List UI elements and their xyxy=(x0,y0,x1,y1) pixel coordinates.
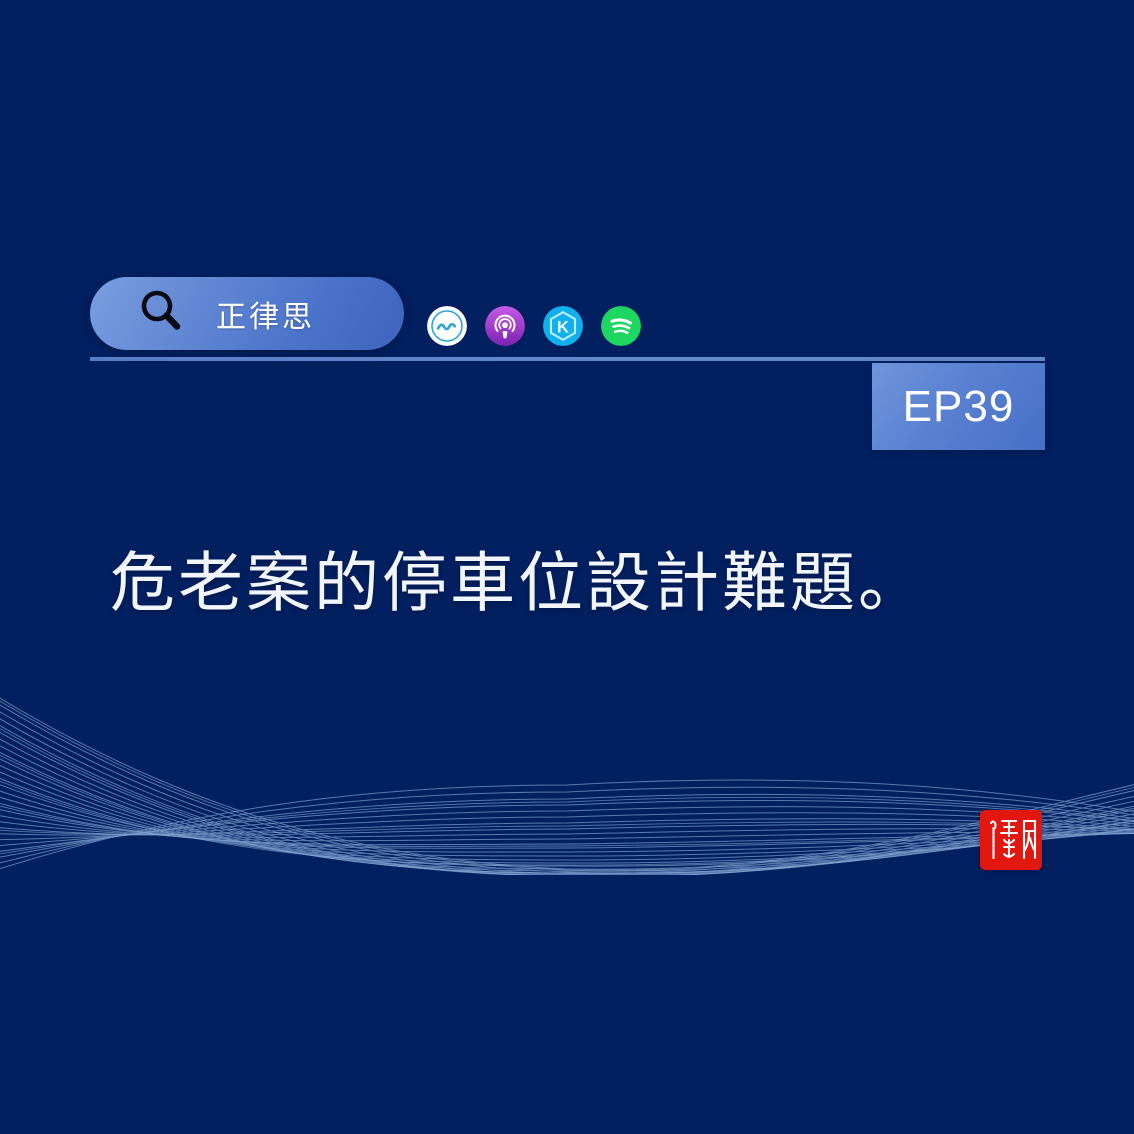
soundon-icon[interactable] xyxy=(427,306,467,346)
page-title: 危老案的停車位設計難題。 xyxy=(110,542,1050,623)
search-label: 正律思 xyxy=(216,292,315,336)
svg-text:K: K xyxy=(557,318,569,336)
kkbox-icon[interactable]: K xyxy=(543,306,583,346)
spotify-icon[interactable] xyxy=(601,306,641,346)
apple-podcasts-icon[interactable] xyxy=(485,306,525,346)
episode-number-label: EP39 xyxy=(903,382,1015,432)
wave-line-art xyxy=(0,660,1134,875)
red-seal-stamp xyxy=(980,810,1042,870)
search-icon xyxy=(138,288,184,339)
episode-number-badge: EP39 xyxy=(872,363,1045,450)
header-divider xyxy=(90,357,1045,361)
platform-icon-row: K xyxy=(427,306,641,346)
episode-cover-canvas: 正律思 xyxy=(0,0,1134,1134)
search-pill-button[interactable]: 正律思 xyxy=(90,277,404,350)
